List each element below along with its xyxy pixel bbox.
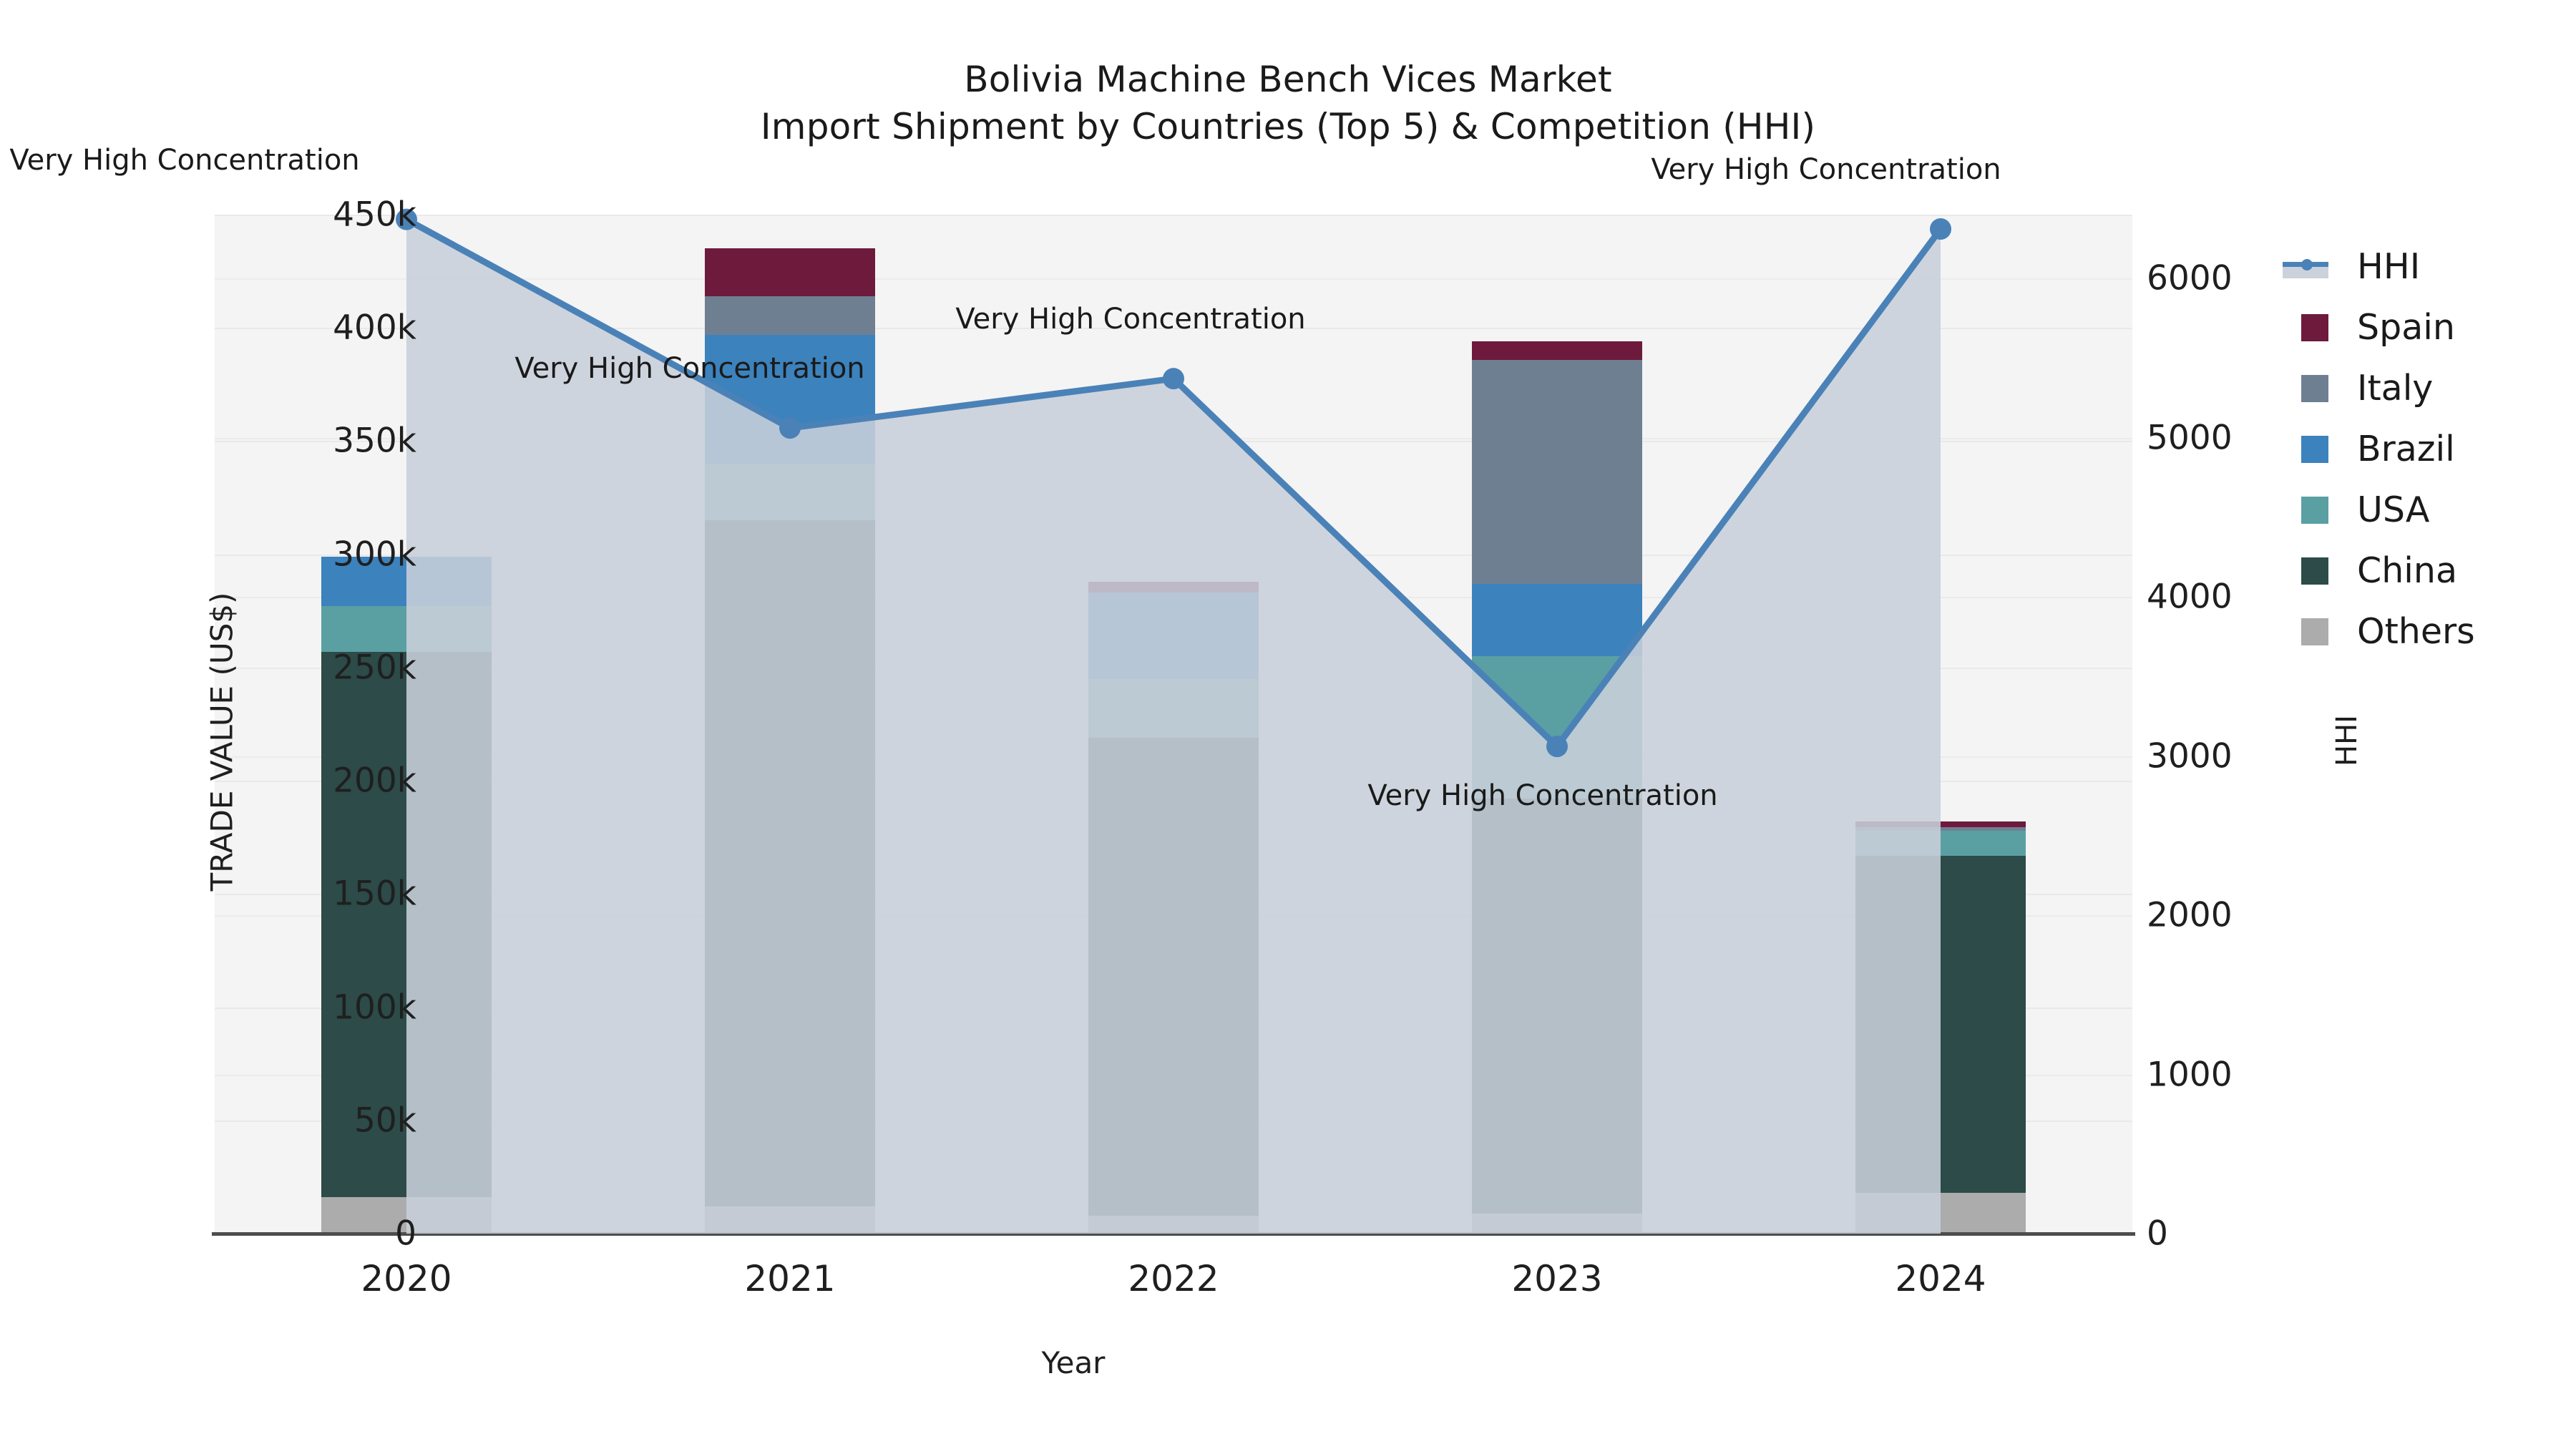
legend-label: Spain xyxy=(2357,307,2455,348)
legend-label: HHI xyxy=(2357,246,2420,287)
gridline-y2 xyxy=(215,438,2132,439)
bar-segment-italy-2021 xyxy=(705,296,875,335)
bar-segment-usa-2020 xyxy=(321,606,492,651)
y-tick-450k: 450k xyxy=(230,195,416,235)
bar-segment-usa-2022 xyxy=(1088,679,1259,738)
y-tick-150k: 150k xyxy=(230,874,416,914)
x-axis-label: Year xyxy=(0,1345,2147,1380)
legend-swatch-others-icon xyxy=(2301,618,2328,645)
y2-tick-3000: 3000 xyxy=(2147,736,2333,776)
gridline-y2 xyxy=(215,278,2132,280)
bar-segment-others-2021 xyxy=(705,1206,875,1234)
bar-segment-usa-2023 xyxy=(1472,656,1642,799)
legend-item-others[interactable]: Others xyxy=(2283,601,2569,662)
bar-segment-brazil-2023 xyxy=(1472,584,1642,656)
y-axis-left-label: TRADE VALUE (US$) xyxy=(205,499,240,985)
annotation-2020: Very High Concentration xyxy=(9,144,359,177)
annotation-2024: Very High Concentration xyxy=(1651,153,2001,186)
y-tick-300k: 300k xyxy=(230,535,416,574)
gridline-y xyxy=(215,555,2132,556)
y-tick-0: 0 xyxy=(230,1214,416,1254)
gridline-y xyxy=(215,215,2132,216)
bar-segment-spain-2022 xyxy=(1088,582,1259,593)
y-tick-400k: 400k xyxy=(230,308,416,348)
y-tick-350k: 350k xyxy=(230,421,416,461)
legend-item-hhi[interactable]: HHI xyxy=(2283,236,2569,297)
chart-title: Bolivia Machine Bench Vices Market Impor… xyxy=(0,56,2576,150)
bar-segment-others-2023 xyxy=(1472,1214,1642,1234)
legend-swatch-spain-icon xyxy=(2301,314,2328,341)
legend-item-china[interactable]: China xyxy=(2283,540,2569,601)
y2-tick-0: 0 xyxy=(2147,1214,2333,1254)
y2-tick-2000: 2000 xyxy=(2147,896,2333,935)
x-tick-2024: 2024 xyxy=(1790,1258,2091,1299)
bar-segment-china-2024 xyxy=(1855,856,2026,1194)
y-tick-200k: 200k xyxy=(230,761,416,801)
legend-label: China xyxy=(2357,550,2457,591)
legend-item-spain[interactable]: Spain xyxy=(2283,297,2569,358)
legend-swatch-usa-icon xyxy=(2301,497,2328,524)
bar-segment-spain-2024 xyxy=(1855,821,2026,827)
bar-segment-others-2022 xyxy=(1088,1216,1259,1234)
legend-item-brazil[interactable]: Brazil xyxy=(2283,419,2569,479)
legend-line-dot xyxy=(2301,259,2313,270)
x-tick-2022: 2022 xyxy=(1023,1258,1324,1299)
y-tick-100k: 100k xyxy=(230,987,416,1027)
x-tick-2020: 2020 xyxy=(256,1258,557,1299)
bar-segment-china-2022 xyxy=(1088,738,1259,1216)
annotation-2022: Very High Concentration xyxy=(955,303,1305,336)
legend-item-italy[interactable]: Italy xyxy=(2283,358,2569,419)
bar-segment-usa-2024 xyxy=(1855,831,2026,856)
legend-swatch-china-icon xyxy=(2301,557,2328,585)
plot-area xyxy=(215,215,2132,1234)
bar-segment-china-2021 xyxy=(705,520,875,1206)
chart-root: Bolivia Machine Bench Vices Market Impor… xyxy=(0,0,2576,1449)
bar-segment-usa-2021 xyxy=(705,464,875,520)
annotation-2023: Very High Concentration xyxy=(1367,779,1717,812)
legend-item-usa[interactable]: USA xyxy=(2283,479,2569,540)
legend-label: Italy xyxy=(2357,368,2433,409)
legend-label: Brazil xyxy=(2357,429,2455,469)
annotation-2021: Very High Concentration xyxy=(514,352,864,385)
legend-swatch-italy-icon xyxy=(2301,375,2328,402)
chart-title-line-1: Bolivia Machine Bench Vices Market xyxy=(0,56,2576,103)
legend-line-icon xyxy=(2283,253,2328,280)
bar-segment-spain-2023 xyxy=(1472,341,1642,359)
bar-segment-spain-2021 xyxy=(705,248,875,296)
bar-segment-italy-2024 xyxy=(1855,827,2026,831)
y-axis-right-label: HHI xyxy=(2331,633,2363,848)
y2-tick-1000: 1000 xyxy=(2147,1055,2333,1094)
bar-segment-brazil-2022 xyxy=(1088,592,1259,678)
legend-label: USA xyxy=(2357,489,2429,530)
x-tick-2023: 2023 xyxy=(1407,1258,1707,1299)
bar-segment-china-2023 xyxy=(1472,799,1642,1213)
chart-title-line-2: Import Shipment by Countries (Top 5) & C… xyxy=(0,103,2576,150)
y-tick-250k: 250k xyxy=(230,648,416,687)
bar-segment-italy-2023 xyxy=(1472,360,1642,584)
legend-swatch-brazil-icon xyxy=(2301,436,2328,463)
bar-segment-others-2024 xyxy=(1855,1193,2026,1234)
legend: HHISpainItalyBrazilUSAChinaOthers xyxy=(2283,236,2569,662)
x-tick-2021: 2021 xyxy=(640,1258,940,1299)
gridline-y xyxy=(215,441,2132,442)
y-tick-50k: 50k xyxy=(230,1101,416,1140)
x-axis-line xyxy=(212,1232,2135,1236)
legend-label: Others xyxy=(2357,611,2475,652)
